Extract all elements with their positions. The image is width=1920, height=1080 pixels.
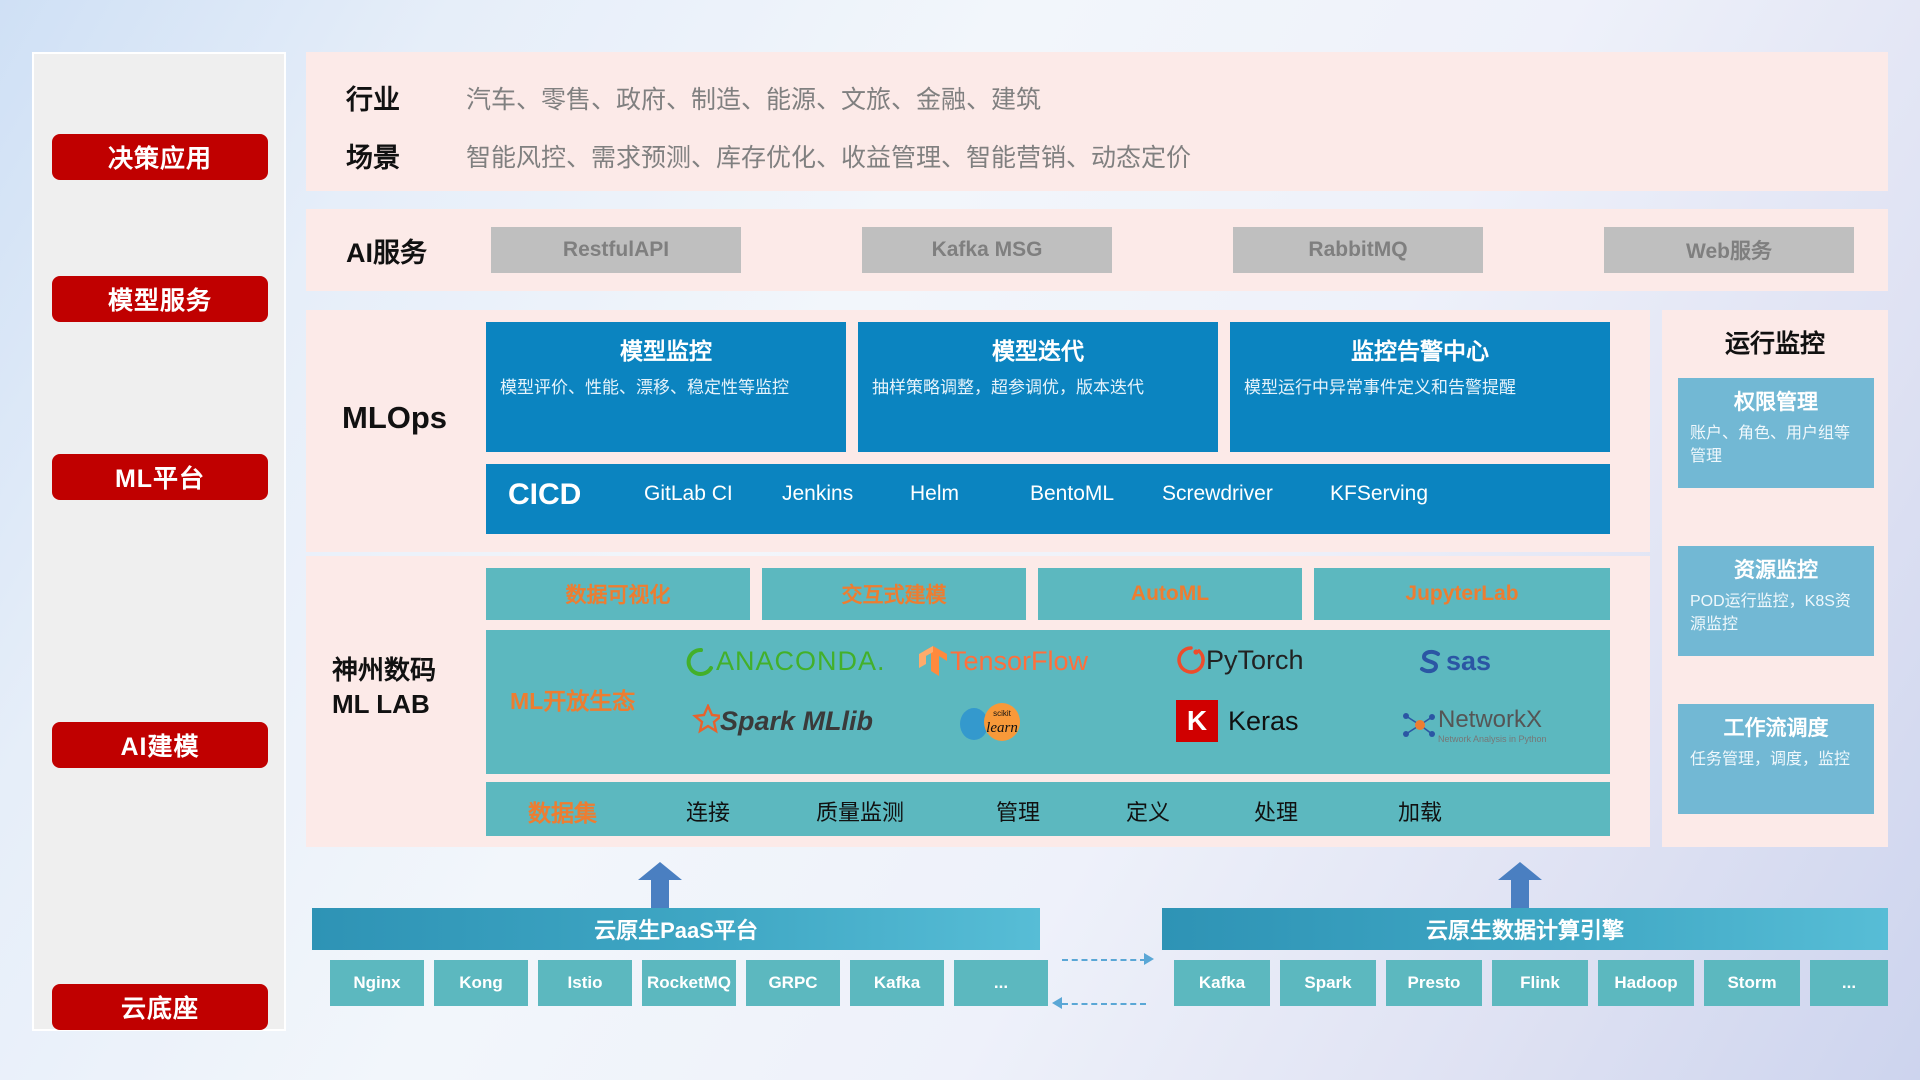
logo-keras: K Keras bbox=[1176, 700, 1299, 742]
logo-label: TensorFlow bbox=[950, 646, 1088, 677]
dataset-title: 数据集 bbox=[528, 794, 597, 828]
cloud-paas-header: 云原生PaaS平台 bbox=[312, 908, 1040, 950]
logo-label: ANACONDA. bbox=[716, 646, 886, 677]
ml-lab-label-line1: 神州数码 bbox=[332, 654, 482, 688]
logo-anaconda: ANACONDA. bbox=[686, 646, 886, 677]
networkx-subtitle: Network Analysis in Python bbox=[1438, 734, 1547, 744]
ai-service-item-web-service[interactable]: Web服务 bbox=[1604, 227, 1854, 273]
layer-chip-decision-app[interactable]: 决策应用 bbox=[52, 134, 268, 180]
industry-row: 行业 汽车、零售、政府、制造、能源、文旅、金融、建筑 bbox=[346, 78, 1041, 117]
ai-modeling-panel: 神州数码 ML LAB 数据可视化 交互式建模 AutoML JupyterLa… bbox=[306, 556, 1650, 847]
layer-chip-ai-modeling[interactable]: AI建模 bbox=[52, 722, 268, 768]
logo-spark-mllib: Spark MLlib bbox=[684, 704, 873, 738]
tool-jupyterlab[interactable]: JupyterLab bbox=[1314, 568, 1610, 620]
svg-text:learn: learn bbox=[986, 720, 1018, 736]
card-desc: 模型运行中异常事件定义和告警提醒 bbox=[1244, 376, 1596, 401]
ml-lab-label-line2: ML LAB bbox=[332, 688, 482, 722]
dataset-item-process[interactable]: 处理 bbox=[1254, 795, 1298, 827]
dash-arrow-right-icon bbox=[1144, 953, 1154, 965]
card-title: 模型迭代 bbox=[872, 332, 1204, 366]
arrow-up-compute bbox=[1498, 862, 1542, 908]
logo-networkx: NetworkX Network Analysis in Python bbox=[1398, 706, 1547, 744]
ml-ecosystem-band: ML开放生态 ANACONDA. TensorFlow PyTorch bbox=[486, 630, 1610, 774]
networkx-icon bbox=[1398, 708, 1438, 742]
tool-data-visualization[interactable]: 数据可视化 bbox=[486, 568, 750, 620]
card-title: 工作流调度 bbox=[1690, 712, 1862, 742]
cicd-item-bentoml[interactable]: BentoML bbox=[1030, 481, 1142, 507]
paas-item-nginx[interactable]: Nginx bbox=[330, 960, 424, 1006]
card-desc: 抽样策略调整，超参调优，版本迭代 bbox=[872, 376, 1204, 401]
layer-chip-cloud-base[interactable]: 云底座 bbox=[52, 984, 268, 1030]
monitor-card-resource[interactable]: 资源监控 POD运行监控，K8S资源监控 bbox=[1678, 546, 1874, 656]
compute-item-spark[interactable]: Spark bbox=[1280, 960, 1376, 1006]
ml-lab-label: 神州数码 ML LAB bbox=[332, 654, 482, 722]
mlops-label: MLOps bbox=[342, 400, 447, 436]
compute-item-flink[interactable]: Flink bbox=[1492, 960, 1588, 1006]
dataset-band: 数据集 连接 质量监测 管理 定义 处理 加载 bbox=[486, 782, 1610, 836]
dash-arrow-left-icon bbox=[1052, 997, 1062, 1009]
dataset-item-load[interactable]: 加载 bbox=[1398, 795, 1442, 827]
dash-line-left bbox=[1062, 1003, 1146, 1005]
paas-item-kong[interactable]: Kong bbox=[434, 960, 528, 1006]
anaconda-icon bbox=[686, 647, 716, 677]
logo-pytorch: PyTorch bbox=[1176, 644, 1304, 676]
sas-icon bbox=[1414, 647, 1446, 677]
compute-item-kafka[interactable]: Kafka bbox=[1174, 960, 1270, 1006]
monitor-card-permission[interactable]: 权限管理 账户、角色、用户组等管理 bbox=[1678, 378, 1874, 488]
cicd-title: CICD bbox=[508, 478, 581, 512]
runtime-monitoring-panel: 运行监控 权限管理 账户、角色、用户组等管理 资源监控 POD运行监控，K8S资… bbox=[1662, 310, 1888, 847]
card-desc: 模型评价、性能、漂移、稳定性等监控 bbox=[500, 376, 832, 401]
ml-ecosystem-label: ML开放生态 bbox=[510, 682, 635, 716]
cicd-item-kfserving[interactable]: KFServing bbox=[1330, 481, 1442, 507]
compute-item-storm[interactable]: Storm bbox=[1704, 960, 1800, 1006]
compute-item-presto[interactable]: Presto bbox=[1386, 960, 1482, 1006]
dash-line-right bbox=[1062, 959, 1146, 961]
logo-label: NetworkX bbox=[1438, 706, 1547, 734]
cicd-item-helm[interactable]: Helm bbox=[910, 481, 1022, 507]
industry-scenario-panel: 行业 汽车、零售、政府、制造、能源、文旅、金融、建筑 场景 智能风控、需求预测、… bbox=[306, 52, 1888, 191]
compute-item-hadoop[interactable]: Hadoop bbox=[1598, 960, 1694, 1006]
logo-label: Keras bbox=[1228, 706, 1299, 737]
logo-tensorflow: TensorFlow bbox=[916, 644, 1088, 678]
card-title: 监控告警中心 bbox=[1244, 332, 1596, 366]
mlops-card-model-iteration[interactable]: 模型迭代 抽样策略调整，超参调优，版本迭代 bbox=[858, 322, 1218, 452]
paas-item-more[interactable]: ... bbox=[954, 960, 1048, 1006]
tool-interactive-modeling[interactable]: 交互式建模 bbox=[762, 568, 1026, 620]
compute-item-more[interactable]: ... bbox=[1810, 960, 1888, 1006]
keras-k-icon: K bbox=[1176, 700, 1218, 742]
scenario-row: 场景 智能风控、需求预测、库存优化、收益管理、智能营销、动态定价 bbox=[346, 136, 1191, 175]
logo-sas: sas bbox=[1414, 646, 1491, 677]
dataset-item-manage[interactable]: 管理 bbox=[996, 795, 1040, 827]
mlops-panel: MLOps 模型监控 模型评价、性能、漂移、稳定性等监控 模型迭代 抽样策略调整… bbox=[306, 310, 1650, 552]
layer-rail: 决策应用 模型服务 ML平台 AI建模 云底座 bbox=[32, 52, 286, 1031]
layer-chip-ml-platform[interactable]: ML平台 bbox=[52, 454, 268, 500]
arrow-up-paas bbox=[638, 862, 682, 908]
paas-item-rocketmq[interactable]: RocketMQ bbox=[642, 960, 736, 1006]
runtime-monitoring-title: 运行监控 bbox=[1662, 324, 1888, 360]
ai-service-label: AI服务 bbox=[346, 231, 427, 270]
card-title: 资源监控 bbox=[1690, 554, 1862, 584]
spark-star-icon bbox=[684, 704, 720, 738]
cicd-item-gitlab-ci[interactable]: GitLab CI bbox=[644, 481, 756, 507]
tool-automl[interactable]: AutoML bbox=[1038, 568, 1302, 620]
industry-value: 汽车、零售、政府、制造、能源、文旅、金融、建筑 bbox=[466, 80, 1041, 116]
mlops-card-alert-center[interactable]: 监控告警中心 模型运行中异常事件定义和告警提醒 bbox=[1230, 322, 1610, 452]
card-desc: POD运行监控，K8S资源监控 bbox=[1690, 590, 1862, 636]
card-title: 权限管理 bbox=[1690, 386, 1862, 416]
cicd-bar: CICD GitLab CI Jenkins Helm BentoML Scre… bbox=[486, 464, 1610, 534]
logo-label: PyTorch bbox=[1206, 645, 1304, 676]
layer-chip-model-service[interactable]: 模型服务 bbox=[52, 276, 268, 322]
cicd-item-screwdriver[interactable]: Screwdriver bbox=[1162, 481, 1274, 507]
mlops-card-model-monitoring[interactable]: 模型监控 模型评价、性能、漂移、稳定性等监控 bbox=[486, 322, 846, 452]
card-desc: 任务管理，调度，监控 bbox=[1690, 748, 1862, 771]
logo-scikit-learn: scikit learn bbox=[956, 702, 1032, 742]
dataset-item-define[interactable]: 定义 bbox=[1126, 795, 1170, 827]
svg-text:scikit: scikit bbox=[993, 709, 1012, 718]
monitor-card-workflow[interactable]: 工作流调度 任务管理，调度，监控 bbox=[1678, 704, 1874, 814]
tensorflow-icon bbox=[916, 644, 950, 678]
paas-item-grpc[interactable]: GRPC bbox=[746, 960, 840, 1006]
cicd-item-jenkins[interactable]: Jenkins bbox=[782, 481, 894, 507]
ai-service-item-restfulapi[interactable]: RestfulAPI bbox=[491, 227, 741, 273]
ai-service-item-kafka-msg[interactable]: Kafka MSG bbox=[862, 227, 1112, 273]
ai-service-panel: AI服务 RestfulAPI Kafka MSG RabbitMQ Web服务 bbox=[306, 209, 1888, 291]
scikit-learn-icon: scikit learn bbox=[956, 702, 1032, 742]
scenario-label: 场景 bbox=[346, 136, 466, 175]
paas-item-istio[interactable]: Istio bbox=[538, 960, 632, 1006]
card-title: 模型监控 bbox=[500, 332, 832, 366]
dataset-item-connect[interactable]: 连接 bbox=[686, 795, 730, 827]
scenario-value: 智能风控、需求预测、库存优化、收益管理、智能营销、动态定价 bbox=[466, 138, 1191, 174]
dataset-item-quality-monitor[interactable]: 质量监测 bbox=[816, 795, 904, 827]
industry-label: 行业 bbox=[346, 78, 466, 117]
pytorch-icon bbox=[1176, 644, 1206, 676]
ai-service-item-rabbitmq[interactable]: RabbitMQ bbox=[1233, 227, 1483, 273]
logo-label: Spark MLlib bbox=[720, 706, 873, 737]
card-desc: 账户、角色、用户组等管理 bbox=[1690, 422, 1862, 468]
logo-label: sas bbox=[1446, 646, 1491, 677]
paas-item-kafka[interactable]: Kafka bbox=[850, 960, 944, 1006]
cloud-compute-header: 云原生数据计算引擎 bbox=[1162, 908, 1888, 950]
